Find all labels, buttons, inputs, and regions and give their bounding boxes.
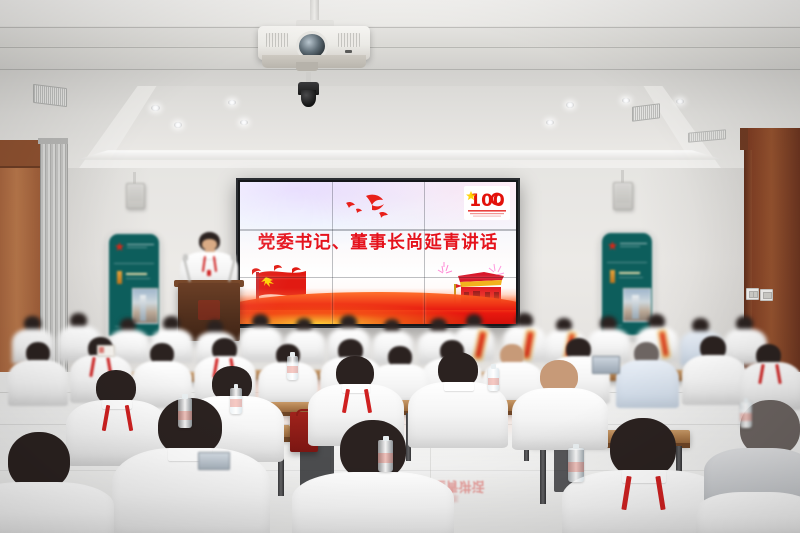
ceiling-upper-band [0,0,800,28]
projector-vent-grille [266,33,288,47]
video-wall-display[interactable]: 100 党委书记、董事长尚延青讲话 [236,178,520,328]
downlight [240,120,248,125]
laptop[interactable] [592,356,620,374]
downlight [228,100,236,105]
slide-title: 党委书记、董事长尚延青讲话 [240,229,516,254]
desk-leg [540,446,546,504]
water-bottle[interactable] [568,448,584,482]
projector-mount-pole [310,0,319,22]
water-bottle[interactable] [488,368,499,391]
downlight [151,105,160,111]
downlight [174,122,182,128]
ceiling-coffer-inner [110,86,690,160]
microphone-head [183,254,188,261]
wall-speaker-left [126,183,145,209]
downlight [676,99,684,104]
water-bottle[interactable] [230,388,242,414]
video-wall-screen: 100 党委书记、董事长尚延青讲话 [240,182,516,324]
light-switch-plate[interactable] [760,289,773,301]
wall-speaker-right [613,182,633,210]
ceiling-seam [0,47,800,48]
video-wall-bezel-seam [240,229,516,231]
projector-vent-grille [338,33,360,47]
conference-room-photo: 党委书记、董事长尚延青讲话 庆祝中国共产党成立100周年 100 党委 [0,0,800,533]
downlight [622,98,630,103]
projector-foot [296,62,318,71]
air-vent [33,84,67,107]
peace-doves-icon [328,190,408,224]
video-wall-bezel-seam [332,182,334,324]
projector-port [345,50,352,53]
microphone-head [231,254,236,261]
downlight [546,120,554,125]
water-bottle[interactable] [740,402,752,428]
light-switch-plate[interactable] [746,288,759,300]
partition-track [38,138,68,144]
ceiling-band-2 [0,26,800,48]
ceiling-seam [0,27,800,28]
name-card-text [99,347,104,353]
wood-panel-header-left [0,140,42,168]
video-wall-bezel-seam [240,277,516,279]
podium-emblem [198,300,220,320]
cpc-100th-anniversary-logo: 100 [464,186,510,220]
water-bottle[interactable] [378,440,393,472]
water-bottle[interactable] [178,398,192,428]
downlight [566,102,574,108]
video-wall-bezel-seam [424,182,426,324]
ceiling-cove-light [76,150,724,160]
dome-camera-lens [301,90,316,107]
presenter-badge [207,270,211,276]
water-bottle[interactable] [287,356,298,380]
laptop[interactable] [198,452,230,470]
